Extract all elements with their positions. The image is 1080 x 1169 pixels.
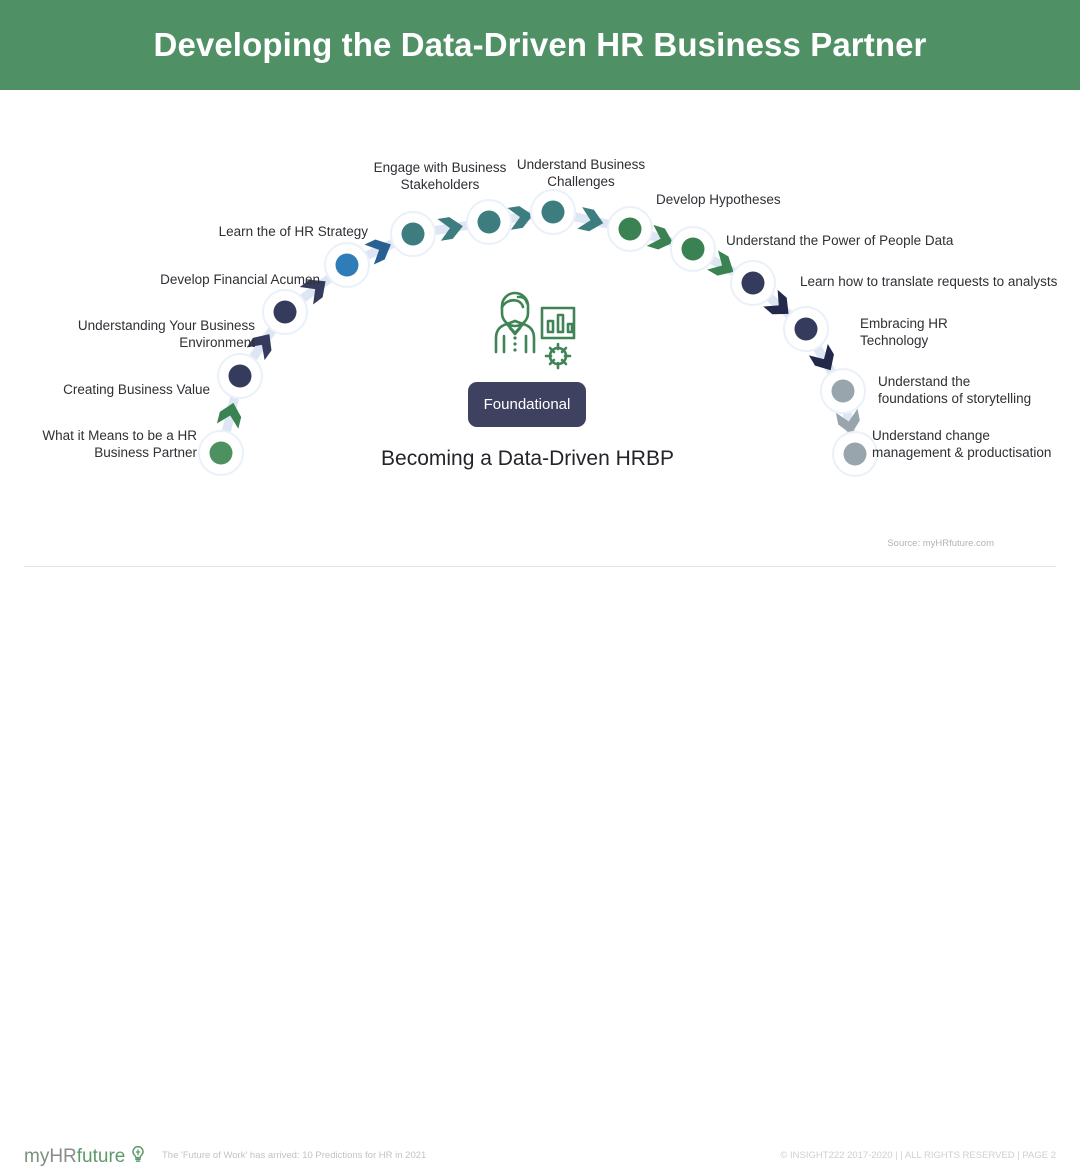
journey-step-label: Understanding Your Business Environment <box>55 318 255 352</box>
journey-node-dot <box>229 365 252 388</box>
footer-copyright: © INSIGHT222 2017-2020 | | ALL RIGHTS RE… <box>780 1150 1056 1161</box>
journey-step-label: Creating Business Value <box>30 382 210 399</box>
journey-node-dot <box>742 272 765 295</box>
journey-node-dot <box>478 211 501 234</box>
journey-node-dot <box>795 318 818 341</box>
journey-node-dot <box>274 301 297 324</box>
journey-node[interactable] <box>608 207 652 251</box>
journey-node-dot <box>210 442 233 465</box>
journey-step-label: Embracing HR Technology <box>860 316 1040 350</box>
journey-node-dot <box>619 218 642 241</box>
journey-step-label: Understand Business Challenges <box>492 157 670 191</box>
journey-node[interactable] <box>325 243 369 287</box>
journey-node[interactable] <box>833 432 877 476</box>
journey-step-label: Learn the of HR Strategy <box>190 224 368 241</box>
journey-step-label: Develop Hypotheses <box>656 192 856 209</box>
journey-step-label: What it Means to be a HR Business Partne… <box>30 428 197 462</box>
myhrfuture-logo: my HR future <box>24 1145 146 1169</box>
journey-node-dot <box>832 380 855 403</box>
journey-node[interactable] <box>784 307 828 351</box>
journey-node[interactable] <box>391 212 435 256</box>
source-note: Source: myHRfuture.com <box>887 538 994 549</box>
journey-node[interactable] <box>218 354 262 398</box>
footer-note: The 'Future of Work' has arrived: 10 Pre… <box>162 1150 426 1161</box>
journey-step-label: Understand the foundations of storytelli… <box>878 374 1078 408</box>
logo-text-my: my <box>24 1146 49 1168</box>
analyst-person-chart-icon <box>480 288 585 388</box>
journey-step-label: Learn how to translate requests to analy… <box>800 274 1080 291</box>
journey-node-dot <box>402 223 425 246</box>
journey-node[interactable] <box>263 290 307 334</box>
journey-node[interactable] <box>821 369 865 413</box>
slide-footer: my HR future The 'Future of Work' has ar… <box>0 567 1080 608</box>
journey-node[interactable] <box>531 190 575 234</box>
journey-node[interactable] <box>467 200 511 244</box>
journey-step-label: Understand change management & productis… <box>872 428 1080 462</box>
journey-node[interactable] <box>671 227 715 271</box>
journey-node[interactable] <box>199 431 243 475</box>
foundational-badge-label: Foundational <box>484 396 571 413</box>
journey-node-dot <box>542 201 565 224</box>
journey-step-label: Develop Financial Acumen <box>120 272 320 289</box>
page-title: Developing the Data-Driven HR Business P… <box>154 26 927 64</box>
foundational-badge: Foundational <box>468 382 586 427</box>
journey-node[interactable] <box>731 261 775 305</box>
journey-node-dot <box>682 238 705 261</box>
journey-node-dot <box>336 254 359 277</box>
journey-step-label: Understand the Power of People Data <box>726 233 1006 250</box>
slide-header: Developing the Data-Driven HR Business P… <box>0 0 1080 90</box>
logo-text-hr: HR <box>49 1146 76 1168</box>
lightbulb-icon <box>130 1145 146 1169</box>
diagram-caption: Becoming a Data-Driven HRBP <box>330 447 725 471</box>
journey-node-dot <box>844 443 867 466</box>
logo-text-future: future <box>77 1146 126 1168</box>
slide-root: Developing the Data-Driven HR Business P… <box>0 0 1080 608</box>
